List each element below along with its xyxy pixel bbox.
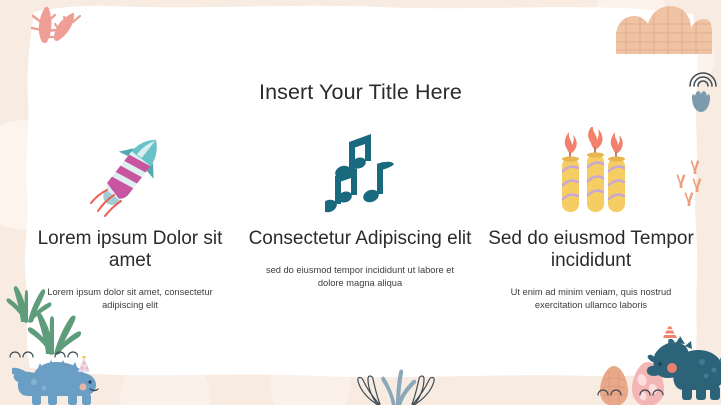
column-2-icon-wrap — [246, 125, 474, 221]
column-1-icon-wrap — [16, 125, 244, 221]
music-notes-icon — [325, 130, 395, 216]
column-3: Sed do eiusmod Tempor incididunt Ut enim… — [477, 125, 705, 312]
column-3-body: Ut enim ad minim veniam, quis nostrud ex… — [477, 286, 705, 312]
column-3-icon-wrap — [477, 125, 705, 221]
page-title: Insert Your Title Here — [0, 80, 721, 105]
firework-rocket-icon — [88, 129, 172, 217]
column-2-body: sed do eiusmod tempor incididunt ut labo… — [246, 264, 474, 290]
column-3-heading: Sed do eiusmod Tempor incididunt — [477, 228, 705, 272]
column-1-heading: Lorem ipsum Dolor sit amet — [16, 228, 244, 272]
column-1: Lorem ipsum Dolor sit amet Lorem ipsum d… — [16, 125, 244, 312]
column-2: Consectetur Adipiscing elit sed do eiusm… — [246, 125, 474, 290]
column-1-body: Lorem ipsum dolor sit amet, consectetur … — [16, 286, 244, 312]
column-2-heading: Consectetur Adipiscing elit — [246, 228, 474, 250]
birthday-candles-icon — [551, 127, 631, 219]
slide-canvas: Insert Your Title Here — [0, 0, 721, 405]
